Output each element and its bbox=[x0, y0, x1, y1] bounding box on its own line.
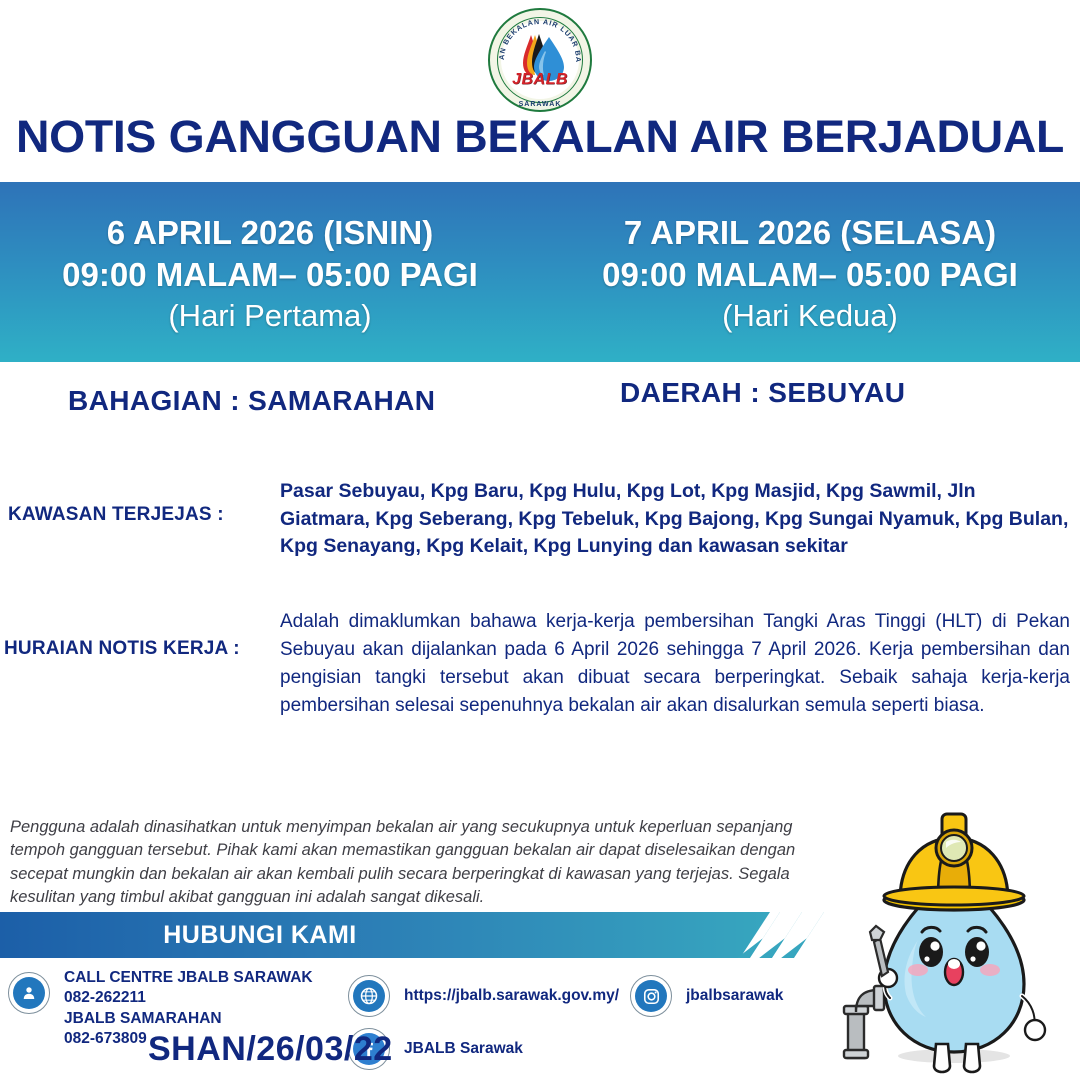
region-row: BAHAGIAN : SAMARAHAN DAERAH : SEBUYAU bbox=[0, 385, 1080, 429]
phone-person-icon[interactable] bbox=[8, 972, 50, 1014]
logo-state: SARAWAK bbox=[488, 101, 592, 108]
wrench-icon bbox=[870, 926, 888, 976]
instagram-glyph bbox=[642, 987, 661, 1006]
person-glyph bbox=[20, 984, 38, 1002]
schedule-date-1: 6 APRIL 2026 (ISNIN) bbox=[107, 212, 433, 254]
instagram-icon-disc bbox=[635, 980, 667, 1012]
schedule-daylabel-1: (Hari Pertama) bbox=[168, 296, 371, 336]
work-description-label: HURAIAN NOTIS KERJA : bbox=[4, 638, 240, 660]
call-centre-line-3: JBALB SAMARAHAN bbox=[64, 1009, 313, 1029]
logo-area: JABATAN BEKALAN AIR LUAR BANDAR JBALB SA… bbox=[0, 6, 1080, 114]
phone-person-icon-disc bbox=[13, 977, 45, 1009]
water-droplet-mascot bbox=[826, 800, 1076, 1080]
reference-code: SHAN/26/03/22 bbox=[148, 1030, 393, 1069]
instagram-handle[interactable]: jbalbsarawak bbox=[686, 986, 783, 1006]
globe-icon-disc bbox=[353, 980, 385, 1012]
schedule-day-1: 6 APRIL 2026 (ISNIN) 09:00 MALAM– 05:00 … bbox=[0, 182, 540, 362]
logo-arc-text: JABATAN BEKALAN AIR LUAR BANDAR bbox=[488, 8, 592, 112]
district-label: DAERAH : SEBUYAU bbox=[620, 377, 905, 409]
contact-banner-label: HUBUNGI KAMI bbox=[163, 921, 607, 950]
contact-banner: HUBUNGI KAMI bbox=[0, 912, 800, 958]
call-centre-line-2: 082-262211 bbox=[64, 988, 313, 1008]
globe-glyph bbox=[359, 986, 379, 1006]
schedule-daylabel-2: (Hari Kedua) bbox=[722, 296, 898, 336]
schedule-day-2: 7 APRIL 2026 (SELASA) 09:00 MALAM– 05:00… bbox=[540, 182, 1080, 362]
call-centre-line-1: CALL CENTRE JBALB SARAWAK bbox=[64, 968, 313, 988]
facebook-page-name[interactable]: JBALB Sarawak bbox=[404, 1039, 523, 1059]
website-text[interactable]: https://jbalb.sarawak.gov.my/ bbox=[404, 986, 619, 1006]
work-description-text: Adalah dimaklumkan bahawa kerja-kerja pe… bbox=[280, 608, 1070, 720]
affected-areas-label: KAWASAN TERJEJAS : bbox=[8, 504, 224, 526]
instagram-icon[interactable] bbox=[630, 975, 672, 1017]
contact-banner-body: HUBUNGI KAMI bbox=[0, 912, 770, 958]
logo-acronym: JBALB bbox=[488, 72, 592, 88]
schedule-time-2: 09:00 MALAM– 05:00 PAGI bbox=[602, 254, 1018, 296]
work-description-row: HURAIAN NOTIS KERJA : Adalah dimaklumkan… bbox=[0, 608, 1080, 758]
globe-icon[interactable] bbox=[348, 975, 390, 1017]
schedule-band: 6 APRIL 2026 (ISNIN) 09:00 MALAM– 05:00 … bbox=[0, 182, 1080, 362]
page-title: NOTIS GANGGUAN BEKALAN AIR BERJADUAL bbox=[0, 112, 1080, 162]
logo-arc-label: JABATAN BEKALAN AIR LUAR BANDAR bbox=[488, 8, 583, 63]
jbalb-logo: JABATAN BEKALAN AIR LUAR BANDAR JBALB SA… bbox=[488, 8, 592, 112]
schedule-date-2: 7 APRIL 2026 (SELASA) bbox=[624, 212, 996, 254]
division-label: BAHAGIAN : SAMARAHAN bbox=[68, 385, 435, 417]
schedule-time-1: 09:00 MALAM– 05:00 PAGI bbox=[62, 254, 478, 296]
affected-areas-row: KAWASAN TERJEJAS : Pasar Sebuyau, Kpg Ba… bbox=[0, 478, 1080, 568]
svg-text:JABATAN BEKALAN AIR LUAR BANDA: JABATAN BEKALAN AIR LUAR BANDAR bbox=[488, 8, 583, 63]
hard-hat-icon bbox=[884, 814, 1024, 910]
banner-slash-icon-3 bbox=[781, 912, 824, 958]
affected-areas-text: Pasar Sebuyau, Kpg Baru, Kpg Hulu, Kpg L… bbox=[280, 478, 1070, 561]
advisory-note: Pengguna adalah dinasihatkan untuk menyi… bbox=[10, 816, 800, 910]
